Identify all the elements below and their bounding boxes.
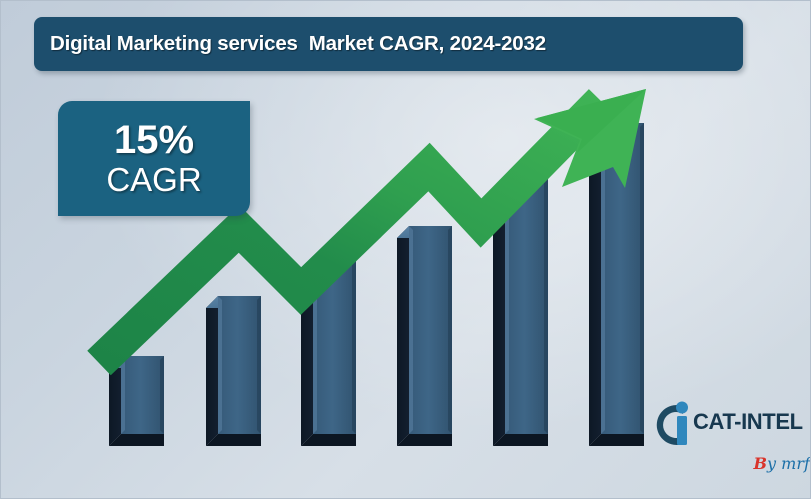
logo[interactable]: CAT-INTEL By mrfr	[653, 395, 799, 465]
title-banner: Digital Marketing services Market CAGR, …	[34, 17, 743, 71]
logo-byline-rest: y mrfr	[767, 454, 811, 473]
bar-4	[397, 226, 452, 446]
cagr-value: 15%	[114, 119, 194, 161]
bar-1	[109, 356, 164, 446]
logo-wordmark: CAT-INTEL	[693, 409, 803, 435]
infographic-canvas: Digital Marketing services Market CAGR, …	[0, 0, 811, 499]
bar-2	[206, 296, 261, 446]
cagr-callout: 15% CAGR	[58, 101, 250, 216]
logo-byline: By mrfr	[723, 435, 811, 492]
page-title: Digital Marketing services Market CAGR, …	[50, 32, 546, 56]
logo-byline-accent: B	[754, 454, 768, 473]
cagr-label: CAGR	[106, 161, 201, 199]
